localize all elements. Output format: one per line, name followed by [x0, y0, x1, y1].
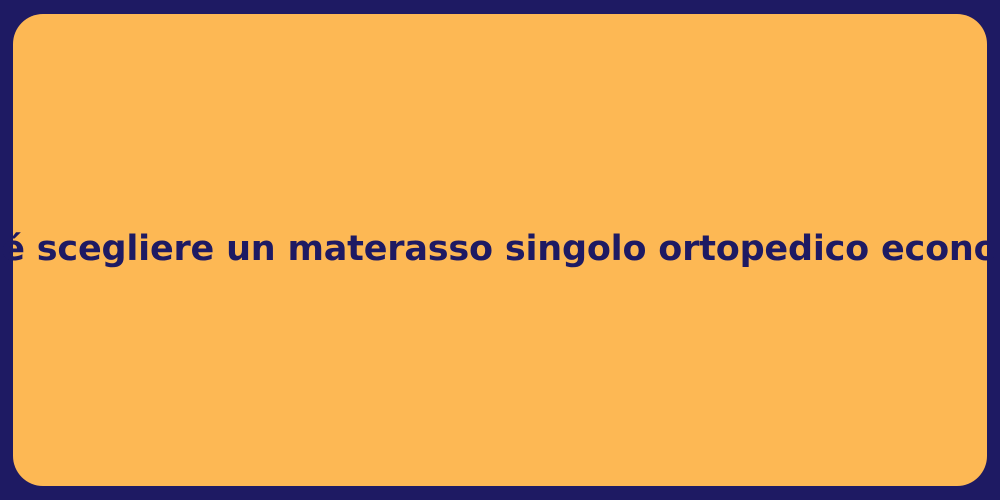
- banner-frame: Perché scegliere un materasso singolo or…: [0, 0, 1000, 500]
- page-title: Perché scegliere un materasso singolo or…: [0, 228, 1000, 272]
- content-panel: Perché scegliere un materasso singolo or…: [13, 14, 987, 486]
